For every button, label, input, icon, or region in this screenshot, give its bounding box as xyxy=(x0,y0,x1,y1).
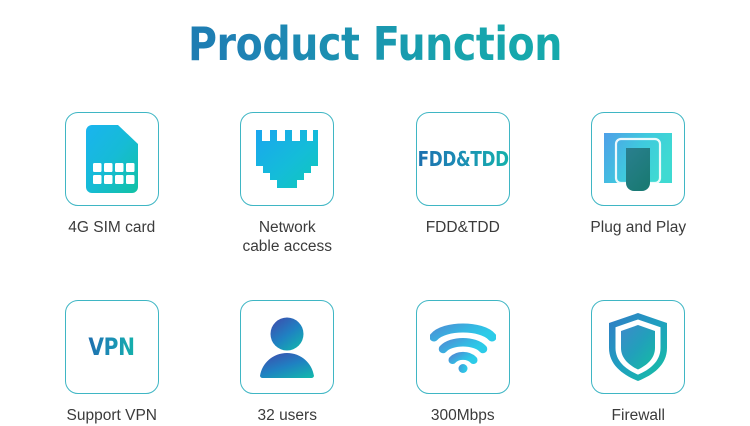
feature-card[interactable] xyxy=(65,112,159,206)
sim-card-icon xyxy=(86,125,138,193)
feature-label: 4G SIM card xyxy=(68,218,155,237)
product-function-infographic: Product Function xyxy=(0,0,750,426)
feature-card[interactable] xyxy=(591,300,685,394)
feature-card[interactable] xyxy=(240,112,334,206)
plug-and-play-icon xyxy=(604,127,672,191)
feature-grid: 4G SIM card xyxy=(24,112,726,425)
wifi-icon xyxy=(430,321,496,373)
feature-item-plug-and-play[interactable]: Plug and Play xyxy=(551,112,727,256)
rj45-connector-icon xyxy=(256,130,318,188)
shield-icon xyxy=(609,313,667,381)
feature-label: Firewall xyxy=(612,406,665,425)
feature-item-fdd-tdd[interactable]: FDD&TDD FDD&TDD xyxy=(375,112,551,256)
feature-card[interactable]: VPN xyxy=(65,300,159,394)
feature-label: Network cable access xyxy=(242,218,332,256)
feature-item-network-cable-access[interactable]: Network cable access xyxy=(200,112,376,256)
feature-label: Plug and Play xyxy=(590,218,686,237)
feature-card[interactable] xyxy=(591,112,685,206)
feature-label: 300Mbps xyxy=(431,406,495,425)
fdd-tdd-text: FDD&TDD xyxy=(417,147,508,171)
feature-item-support-vpn[interactable]: VPN Support VPN xyxy=(24,300,200,425)
feature-item-300mbps[interactable]: 300Mbps xyxy=(375,300,551,425)
feature-item-32-users[interactable]: 32 users xyxy=(200,300,376,425)
feature-label: 32 users xyxy=(258,406,317,425)
vpn-text: VPN xyxy=(89,333,135,361)
page-title: Product Function xyxy=(53,16,698,72)
feature-card[interactable] xyxy=(416,300,510,394)
feature-item-4g-sim-card[interactable]: 4G SIM card xyxy=(24,112,200,256)
feature-label: Support VPN xyxy=(67,406,157,425)
feature-label: FDD&TDD xyxy=(426,218,500,237)
feature-card[interactable] xyxy=(240,300,334,394)
feature-card[interactable]: FDD&TDD xyxy=(416,112,510,206)
user-icon xyxy=(257,316,317,378)
feature-item-firewall[interactable]: Firewall xyxy=(551,300,727,425)
